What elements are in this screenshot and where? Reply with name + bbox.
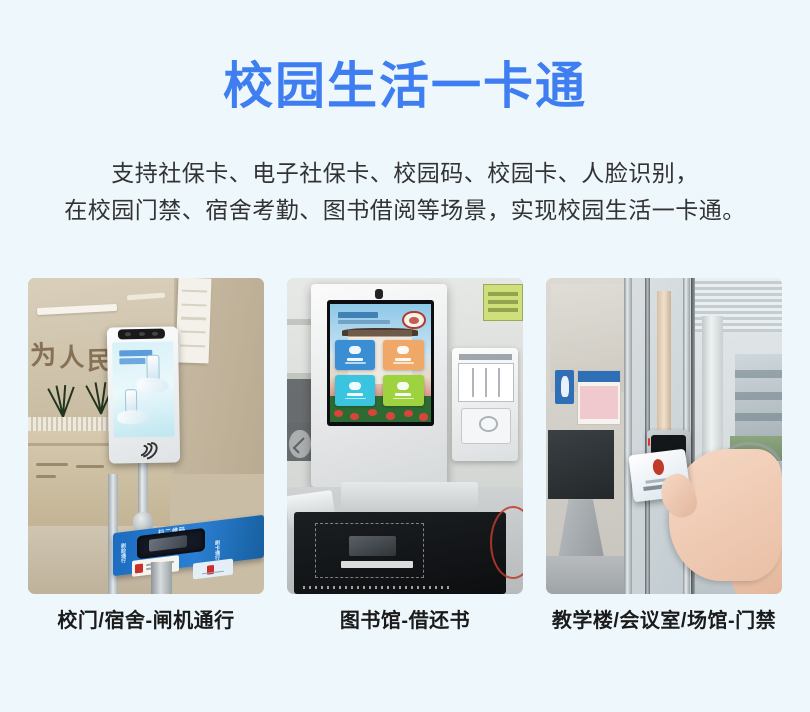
wall-calendar [175, 278, 211, 364]
photo-gate-turnstile: 为 人 民 服 [28, 278, 264, 594]
caption-door-access: 教学楼/会议室/场馆-门禁 [546, 604, 782, 634]
nfc-wave-icon [136, 441, 153, 456]
caption-gate: 校门/宿舍-闸机通行 [28, 604, 264, 634]
turnstile-post [151, 562, 172, 594]
photo-row: 为 人 民 服 [28, 278, 782, 594]
terminal-screen [112, 341, 175, 437]
face-recognition-terminal [107, 326, 180, 463]
photo-card-gate: 为 人 民 服 [28, 278, 264, 594]
gate-right-label: 刷卡通行 [214, 540, 221, 561]
outdoor-pillar [702, 316, 723, 468]
photo-card-library [287, 278, 523, 594]
self-service-kiosk [311, 284, 448, 486]
wall-char-1: 为 [29, 334, 57, 372]
kiosk-desk-front [341, 482, 478, 514]
chevron-left-icon [289, 430, 310, 458]
photo-card-door-access [546, 278, 782, 594]
subtitle-line-2: 在校园门禁、宿舍考勤、图书借阅等场景，实现校园生活一卡通。 [0, 192, 810, 229]
kiosk-tile-search[interactable] [335, 375, 375, 406]
subtitle-line-1: 支持社保卡、电子社保卡、校园码、校园卡、人脸识别， [0, 155, 810, 192]
wall-poster [577, 370, 621, 426]
tray-label [341, 561, 413, 568]
photo-door-access [546, 278, 782, 594]
promo-page: 校园生活一卡通 支持社保卡、电子社保卡、校园码、校园卡、人脸识别， 在校园门禁、… [0, 0, 810, 712]
reader-zone [461, 408, 511, 444]
screen-subheading [338, 320, 390, 324]
kiosk-tile-borrow[interactable] [335, 340, 375, 371]
door-frame-1 [624, 278, 632, 594]
outdoor-building [735, 354, 782, 436]
kiosk-tile-return[interactable] [383, 340, 423, 371]
plant-1 [47, 385, 78, 417]
caption-library: 图书馆-借还书 [287, 604, 523, 634]
wall-char-2: 人 [58, 338, 84, 375]
glass-pane-1 [632, 278, 645, 594]
camera-icon [118, 329, 165, 339]
page-subtitle: 支持社保卡、电子社保卡、校园码、校园卡、人脸识别， 在校园门禁、宿舍考勤、图书借… [0, 155, 810, 229]
camera-icon [375, 289, 383, 299]
book-drop-tray [294, 512, 506, 594]
blue-sign-icon [555, 370, 574, 405]
page-title: 校园生活一卡通 [0, 56, 810, 116]
interior-floor [546, 556, 631, 594]
kiosk-screen [330, 304, 430, 422]
interior-dark-panel [548, 430, 614, 500]
card-reader-panel [452, 348, 518, 462]
national-emblem-icon [135, 563, 143, 573]
wall-notice-sign [483, 284, 523, 321]
kiosk-screen-bezel [327, 300, 434, 425]
screen-heading [338, 312, 378, 318]
photo-library-kiosk [287, 278, 523, 594]
school-logo-icon [402, 311, 425, 329]
kiosk-tile-renew[interactable] [383, 375, 423, 406]
caption-row: 校门/宿舍-闸机通行 图书馆-借还书 教学楼/会议室/场馆-门禁 [28, 604, 782, 634]
gate-left-label: 刷脸通行 [120, 543, 127, 564]
national-emblem-icon [652, 458, 665, 475]
